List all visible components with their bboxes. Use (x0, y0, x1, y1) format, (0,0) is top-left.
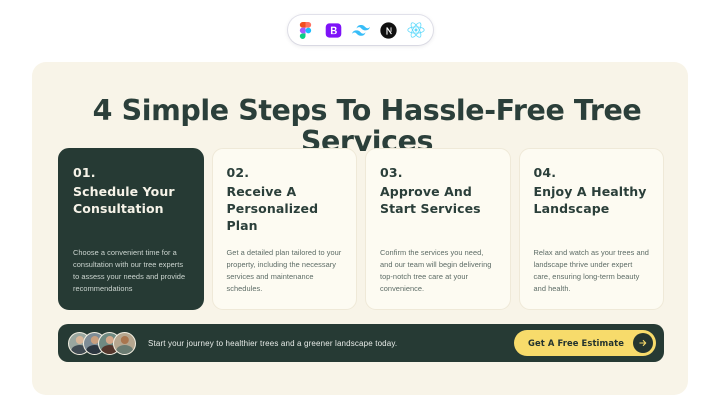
avatar (113, 332, 136, 355)
cta-text: Start your journey to healthier trees an… (148, 339, 514, 348)
tech-stack-bar (288, 15, 433, 45)
tailwindcss-icon[interactable] (351, 21, 370, 40)
get-free-estimate-button[interactable]: Get A Free Estimate (514, 330, 656, 356)
page-root: 4 Simple Steps To Hassle-Free Tree Servi… (0, 0, 720, 405)
step-card-02[interactable]: 02. Receive A Personalized Plan Get a de… (212, 148, 358, 310)
arrow-right-icon (633, 333, 653, 353)
step-title: Enjoy A Healthy Landscape (534, 183, 650, 218)
step-description: Choose a convenient time for a consultat… (73, 247, 189, 295)
avatar-group (68, 332, 136, 355)
steps-card-list: 01. Schedule Your Consultation Choose a … (58, 148, 664, 310)
figma-icon[interactable] (296, 21, 315, 40)
step-number: 01. (73, 165, 189, 182)
step-number: 03. (380, 165, 496, 182)
step-number: 02. (227, 165, 343, 182)
nextjs-icon[interactable] (379, 21, 398, 40)
step-description: Confirm the services you need, and our t… (380, 247, 496, 295)
step-number: 04. (534, 165, 650, 182)
step-title: Schedule Your Consultation (73, 183, 189, 218)
cta-button-label: Get A Free Estimate (528, 338, 624, 348)
step-card-01[interactable]: 01. Schedule Your Consultation Choose a … (58, 148, 204, 310)
step-title: Approve And Start Services (380, 183, 496, 218)
react-icon[interactable] (406, 21, 425, 40)
step-card-03[interactable]: 03. Approve And Start Services Confirm t… (365, 148, 511, 310)
steps-panel: 4 Simple Steps To Hassle-Free Tree Servi… (32, 62, 688, 395)
step-description: Relax and watch as your trees and landsc… (534, 247, 650, 295)
step-description: Get a detailed plan tailored to your pro… (227, 247, 343, 295)
step-title: Receive A Personalized Plan (227, 183, 343, 235)
cta-banner: Start your journey to healthier trees an… (58, 324, 664, 362)
step-card-04[interactable]: 04. Enjoy A Healthy Landscape Relax and … (519, 148, 665, 310)
bootstrap-icon[interactable] (324, 21, 343, 40)
